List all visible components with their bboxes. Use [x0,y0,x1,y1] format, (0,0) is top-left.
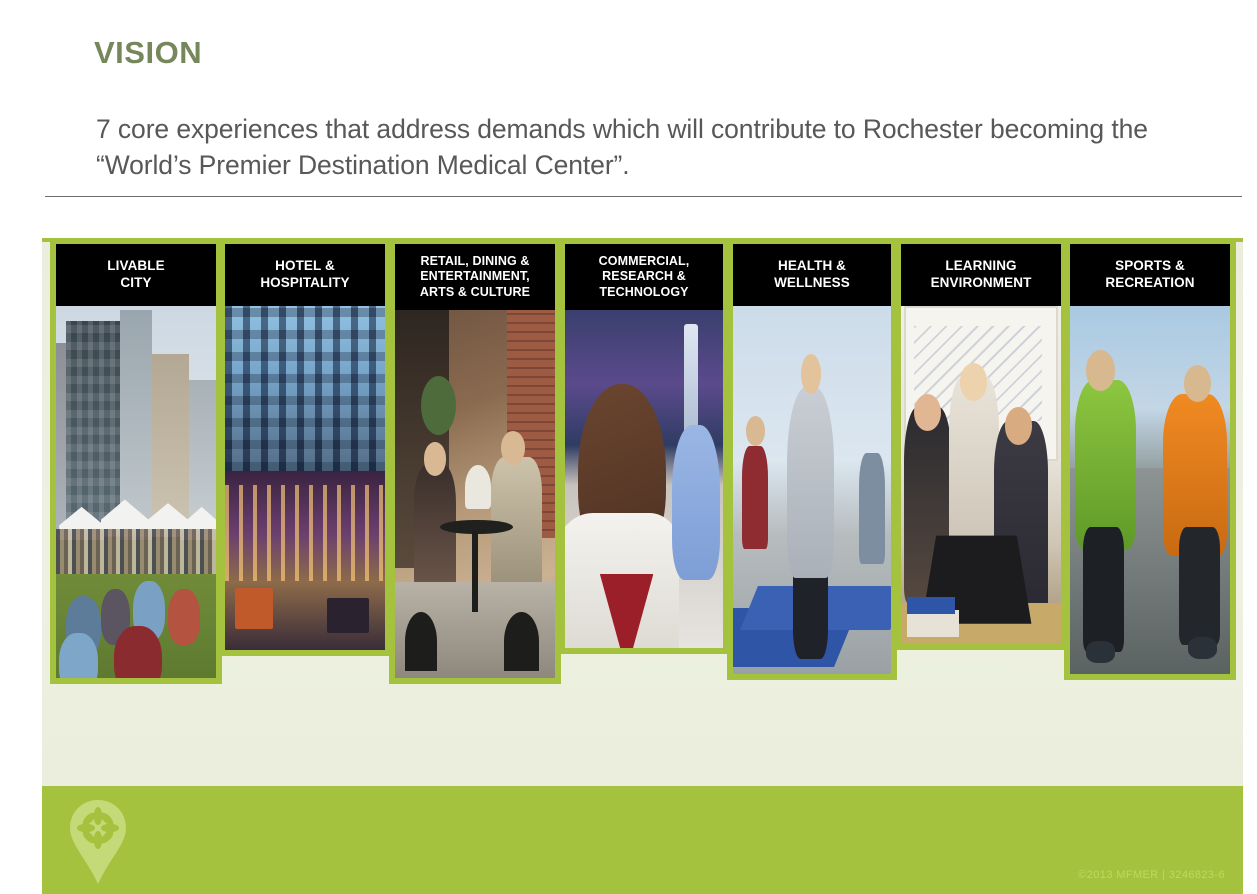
header-line: RESEARCH & [602,269,686,285]
column-commercial-research-technology[interactable]: COMMERCIAL, RESEARCH & TECHNOLOGY [559,238,729,654]
column-hotel-hospitality[interactable]: HOTEL & HOSPITALITY [219,238,391,656]
header-line: COMMERCIAL, [599,254,690,270]
column-header-livable-city: LIVABLE CITY [56,244,216,306]
header-line: TECHNOLOGY [599,285,688,301]
page-title: VISION [94,36,202,70]
column-header-commercial-research: COMMERCIAL, RESEARCH & TECHNOLOGY [565,244,723,310]
header-line: LEARNING [945,258,1016,275]
header-line: RECREATION [1105,275,1194,292]
header-line: HEALTH & [778,258,846,275]
column-header-health-wellness: HEALTH & WELLNESS [733,244,891,306]
header-line: LIVABLE [107,258,164,275]
header-line: HOTEL & [275,258,335,275]
column-health-wellness[interactable]: HEALTH & WELLNESS [727,238,897,680]
dmc-pin-logo [62,796,134,888]
column-sports-recreation[interactable]: SPORTS & RECREATION [1064,238,1236,680]
header-line: HOSPITALITY [260,275,349,292]
column-photo-learning-environment [901,306,1061,644]
column-header-hotel-hospitality: HOTEL & HOSPITALITY [225,244,385,306]
column-header-retail-dining: RETAIL, DINING & ENTERTAINMENT, ARTS & C… [395,244,555,310]
header-line: WELLNESS [774,275,850,292]
column-photo-livable-city [56,306,216,678]
column-header-sports-recreation: SPORTS & RECREATION [1070,244,1230,306]
header-line: ENTERTAINMENT, [420,269,530,285]
column-livable-city[interactable]: LIVABLE CITY [50,238,222,684]
copyright-text: ©2013 MFMER | 3246823-6 [1078,869,1225,881]
experience-columns: LIVABLE CITY [42,238,1243,686]
header-line: ENVIRONMENT [931,275,1032,292]
column-photo-retail-dining [395,310,555,678]
column-photo-commercial-research [565,310,723,648]
column-learning-environment[interactable]: LEARNING ENVIRONMENT [895,238,1067,650]
column-photo-health-wellness [733,306,891,674]
header-line: CITY [120,275,151,292]
header-line: RETAIL, DINING & [420,254,529,270]
column-photo-sports-recreation [1070,306,1230,674]
footer-bar: ©2013 MFMER | 3246823-6 [42,786,1243,894]
column-retail-dining-entertainment-arts-culture[interactable]: RETAIL, DINING & ENTERTAINMENT, ARTS & C… [389,238,561,684]
column-photo-hotel-hospitality [225,306,385,650]
column-header-learning-environment: LEARNING ENVIRONMENT [901,244,1061,306]
page-subtitle: 7 core experiences that address demands … [96,111,1246,183]
title-divider [45,196,1242,197]
header-line: SPORTS & [1115,258,1185,275]
header-line: ARTS & CULTURE [420,285,530,301]
